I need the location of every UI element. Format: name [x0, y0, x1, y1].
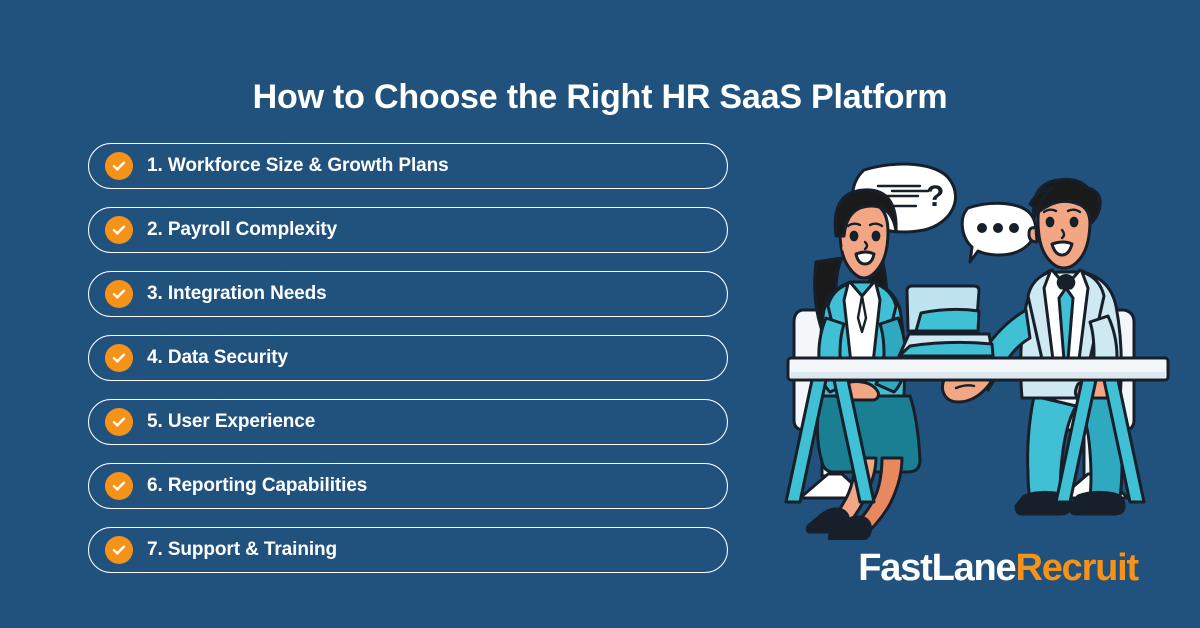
list-item-label: 7. Support & Training	[147, 539, 337, 561]
brand-logo: FastLaneRecruit	[858, 549, 1138, 587]
check-circle-icon	[105, 344, 133, 372]
check-circle-icon	[105, 472, 133, 500]
people-at-desk-illustration: .ol{stroke:#17202a;stroke-width:3;stroke…	[778, 158, 1178, 540]
list-item[interactable]: 6. Reporting Capabilities	[88, 463, 728, 509]
check-circle-icon	[105, 536, 133, 564]
check-circle-icon	[105, 408, 133, 436]
check-circle-icon	[105, 152, 133, 180]
list-item-label: 4. Data Security	[147, 347, 288, 369]
list-item-label: 3. Integration Needs	[147, 283, 327, 305]
logo-text-primary: FastLane	[858, 547, 1015, 589]
infographic-canvas: How to Choose the Right HR SaaS Platform…	[0, 0, 1200, 628]
list-item[interactable]: 3. Integration Needs	[88, 271, 728, 317]
check-circle-icon	[105, 280, 133, 308]
speech-bubble-right-icon	[962, 203, 1035, 262]
list-item[interactable]: 5. User Experience	[88, 399, 728, 445]
list-item[interactable]: 7. Support & Training	[88, 527, 728, 573]
check-circle-icon	[105, 216, 133, 244]
checklist: 1. Workforce Size & Growth Plans 2. Payr…	[88, 143, 728, 591]
logo-text-accent: Recruit	[1015, 547, 1138, 589]
laptop-icon	[899, 286, 993, 356]
list-item-label: 1. Workforce Size & Growth Plans	[147, 155, 449, 177]
list-item[interactable]: 4. Data Security	[88, 335, 728, 381]
list-item[interactable]: 1. Workforce Size & Growth Plans	[88, 143, 728, 189]
svg-text:?: ?	[926, 180, 944, 213]
page-title: How to Choose the Right HR SaaS Platform	[0, 78, 1200, 117]
list-item-label: 6. Reporting Capabilities	[147, 475, 367, 497]
list-item[interactable]: 2. Payroll Complexity	[88, 207, 728, 253]
list-item-label: 5. User Experience	[147, 411, 315, 433]
list-item-label: 2. Payroll Complexity	[147, 219, 337, 241]
